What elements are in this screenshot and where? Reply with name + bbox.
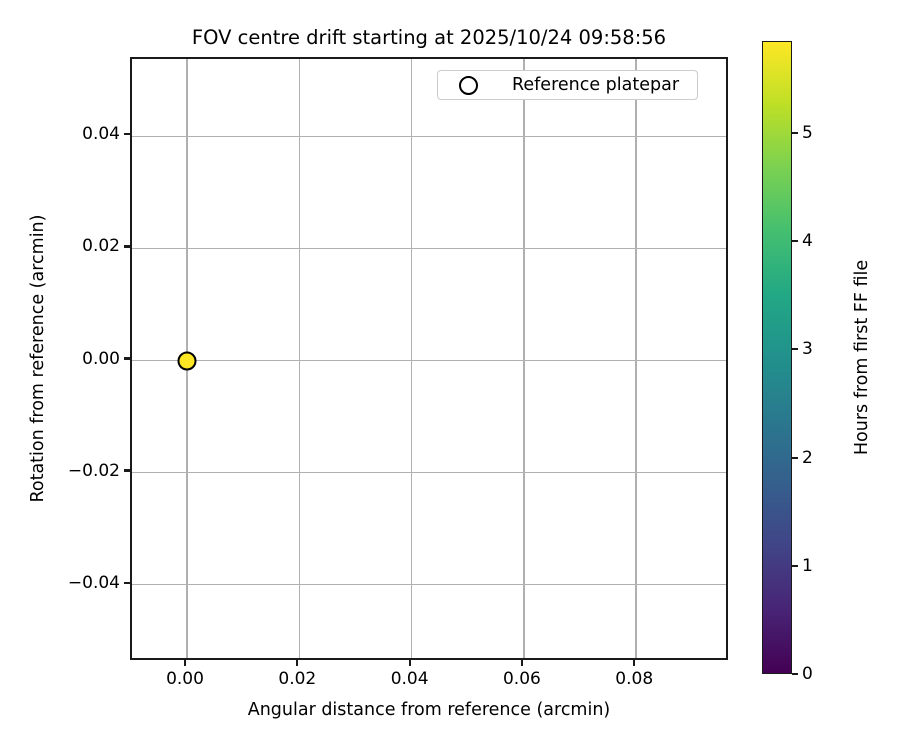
y-axis-label: Rotation from reference (arcmin): [28, 57, 49, 660]
colorbar-tick-mark-1: [792, 565, 798, 567]
legend: Reference platepar: [437, 70, 698, 100]
colorbar-tick-label-3: 3: [802, 339, 813, 359]
y-tick-mark-0: [124, 582, 130, 584]
y-tick-label-0: −0.04: [0, 573, 120, 593]
colorbar-label: Hours from first FF file: [852, 41, 873, 674]
colorbar-tick-mark-3: [792, 348, 798, 350]
y-tick-mark-4: [124, 133, 130, 135]
colorbar-tick-label-2: 2: [802, 448, 813, 468]
colorbar-tick-label-5: 5: [802, 123, 813, 143]
x-tick-label-0: 0.00: [166, 669, 204, 689]
y-tick-mark-1: [124, 469, 130, 471]
colorbar-tick-label-0: 0: [802, 664, 813, 684]
colorbar-tick-mark-5: [792, 132, 798, 134]
x-tick-label-2: 0.04: [391, 669, 429, 689]
colorbar: [762, 41, 792, 674]
colorbar-tick-label-4: 4: [802, 231, 813, 251]
legend-item-label: Reference platepar: [512, 75, 679, 95]
x-tick-mark-3: [521, 660, 523, 666]
x-tick-label-4: 0.08: [615, 669, 653, 689]
x-tick-label-3: 0.06: [503, 669, 541, 689]
y-tick-label-3: 0.02: [0, 236, 120, 256]
colorbar-tick-label-1: 1: [802, 556, 813, 576]
legend-marker-icon: [459, 76, 478, 95]
x-tick-mark-1: [296, 660, 298, 666]
data-points-layer: [132, 59, 726, 658]
matplotlib-figure: FOV centre drift starting at 2025/10/24 …: [0, 0, 900, 750]
x-axis-label: Angular distance from reference (arcmin): [130, 700, 728, 721]
y-tick-label-4: 0.04: [0, 124, 120, 144]
x-tick-mark-4: [633, 660, 635, 666]
page-title: FOV centre drift starting at 2025/10/24 …: [130, 27, 728, 49]
x-tick-mark-2: [409, 660, 411, 666]
x-tick-mark-0: [184, 660, 186, 666]
colorbar-tick-mark-2: [792, 457, 798, 459]
y-tick-mark-2: [124, 357, 130, 359]
colorbar-tick-mark-4: [792, 240, 798, 242]
plot-axes: [130, 57, 728, 660]
data-point-0: [178, 351, 197, 370]
y-tick-mark-3: [124, 245, 130, 247]
colorbar-tick-mark-0: [792, 673, 798, 675]
y-tick-label-1: −0.02: [0, 461, 120, 481]
y-tick-label-2: 0.00: [0, 349, 120, 369]
x-tick-label-1: 0.02: [278, 669, 316, 689]
